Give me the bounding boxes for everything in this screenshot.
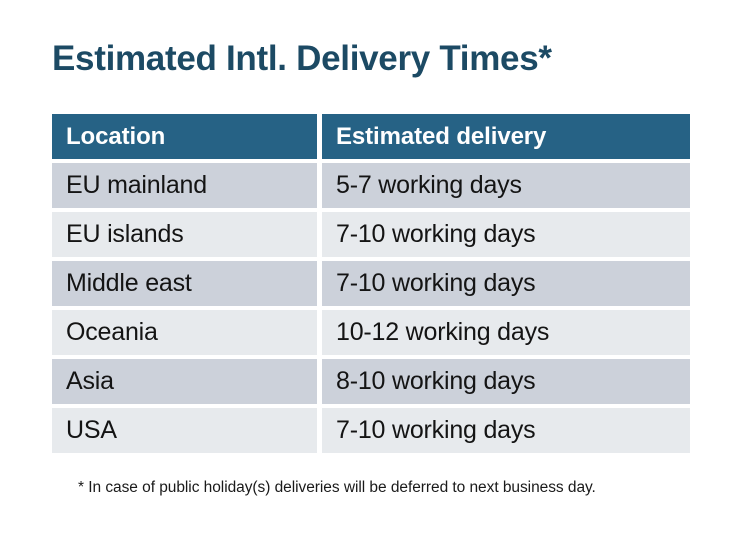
cell-location: EU mainland — [52, 163, 317, 208]
cell-estimated-delivery-text: 5-7 working days — [322, 171, 690, 200]
cell-location-text: EU mainland — [52, 171, 317, 200]
estimated-delivery-table: Location Estimated delivery EU mainland — [52, 114, 690, 453]
cell-estimated-delivery-text: 7-10 working days — [322, 220, 690, 249]
cell-location: USA — [52, 408, 317, 453]
cell-estimated-delivery: 7-10 working days — [322, 261, 690, 306]
cell-location-text: Asia — [52, 367, 317, 396]
cell-location: Oceania — [52, 310, 317, 355]
cell-estimated-delivery: 5-7 working days — [322, 163, 690, 208]
column-header-location: Location — [52, 114, 317, 159]
table-row: EU islands 7-10 working days — [52, 212, 690, 257]
page-title: Estimated Intl. Delivery Times* — [52, 38, 552, 80]
cell-estimated-delivery-text: 7-10 working days — [322, 269, 690, 298]
cell-estimated-delivery-text: 7-10 working days — [322, 416, 690, 445]
column-header-location-label: Location — [52, 123, 317, 151]
cell-location-text: Middle east — [52, 269, 317, 298]
cell-estimated-delivery: 7-10 working days — [322, 212, 690, 257]
cell-estimated-delivery: 7-10 working days — [322, 408, 690, 453]
cell-location-text: USA — [52, 416, 317, 445]
footnote: * In case of public holiday(s) deliverie… — [78, 479, 596, 497]
table-row: EU mainland 5-7 working days — [52, 163, 690, 208]
cell-location: EU islands — [52, 212, 317, 257]
cell-estimated-delivery-text: 8-10 working days — [322, 367, 690, 396]
column-header-estimated-delivery: Estimated delivery — [322, 114, 690, 159]
cell-location-text: EU islands — [52, 220, 317, 249]
cell-location: Asia — [52, 359, 317, 404]
cell-estimated-delivery-text: 10-12 working days — [322, 318, 690, 347]
table-row: USA 7-10 working days — [52, 408, 690, 453]
table-row: Asia 8-10 working days — [52, 359, 690, 404]
cell-location: Middle east — [52, 261, 317, 306]
table-row: Oceania 10-12 working days — [52, 310, 690, 355]
table-body: EU mainland 5-7 working days EU islands … — [52, 159, 690, 453]
delivery-times-page: Estimated Intl. Delivery Times* Location… — [0, 0, 745, 536]
cell-estimated-delivery: 8-10 working days — [322, 359, 690, 404]
table-row: Middle east 7-10 working days — [52, 261, 690, 306]
cell-location-text: Oceania — [52, 318, 317, 347]
column-header-estimated-delivery-label: Estimated delivery — [322, 123, 690, 151]
table-header: Location Estimated delivery — [52, 114, 690, 159]
table-header-row: Location Estimated delivery — [52, 114, 690, 159]
cell-estimated-delivery: 10-12 working days — [322, 310, 690, 355]
